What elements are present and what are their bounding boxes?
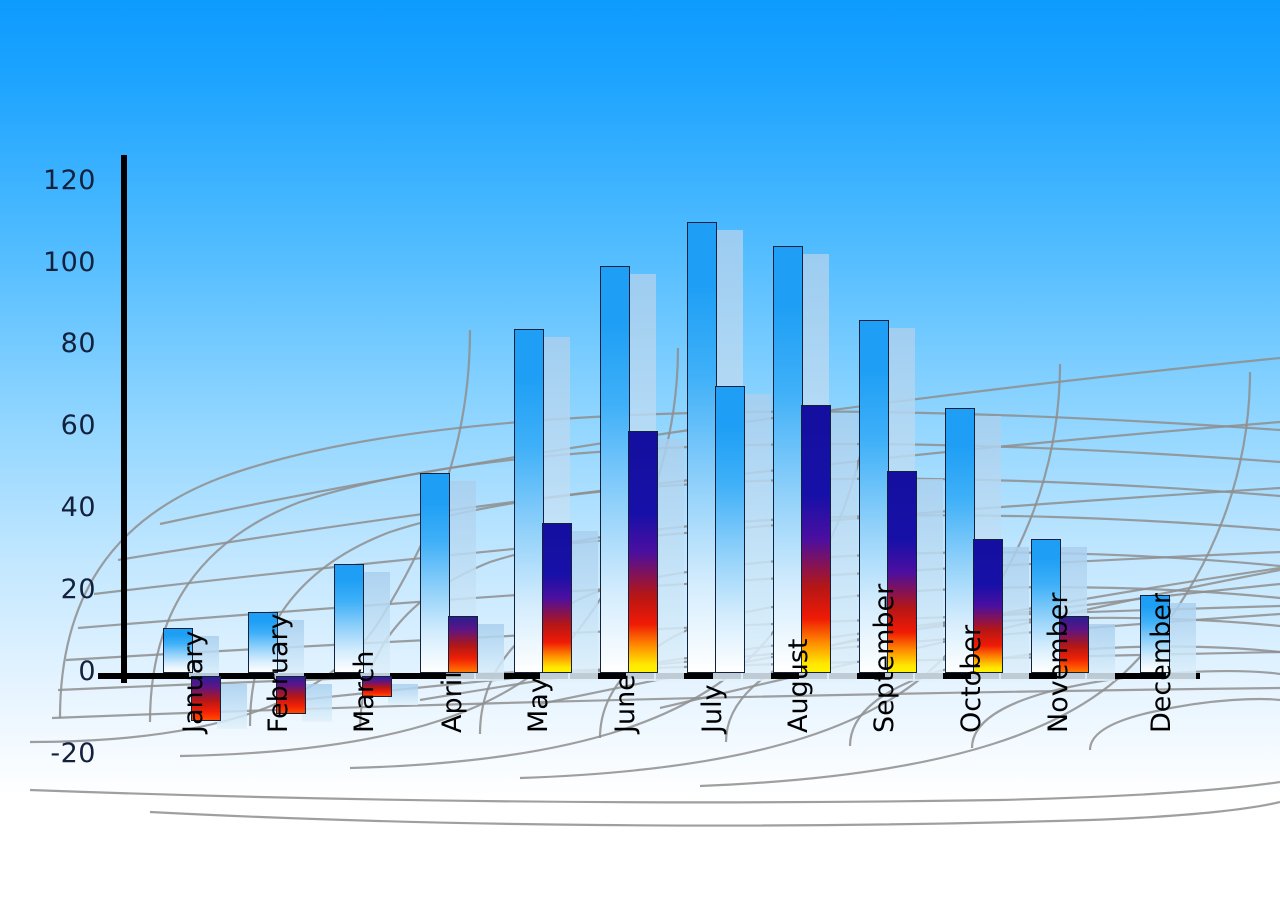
x-tick-label-may: May <box>523 677 554 733</box>
x-tick-label-april: April <box>437 671 468 733</box>
bar-june-series2 <box>628 431 658 673</box>
bar-shadow <box>474 624 504 681</box>
bar-may-series1 <box>514 329 544 673</box>
bar-face <box>420 473 450 673</box>
bar-august-series1 <box>773 246 803 673</box>
bar-shadow <box>999 547 1029 681</box>
x-tick-label-february: February <box>263 613 294 733</box>
bar-august-series2 <box>801 405 831 673</box>
bar-face <box>448 616 478 673</box>
plot-area: 120 100 80 60 40 20 0 -20 <box>0 0 1280 905</box>
bar-shadow <box>741 394 771 681</box>
y-tick-label: 100 <box>24 247 96 278</box>
x-tick-label-september: September <box>869 584 900 733</box>
y-tick-label: 40 <box>24 492 96 523</box>
bar-face <box>542 523 572 673</box>
bar-face <box>600 266 630 673</box>
bar-face <box>773 246 803 673</box>
x-tick-label-august: August <box>783 639 814 734</box>
bar-shadow <box>217 684 247 729</box>
bar-shadow <box>827 413 857 681</box>
bar-shadow <box>568 531 598 681</box>
chart-canvas: 120 100 80 60 40 20 0 -20 <box>0 0 1280 905</box>
bar-july-series2 <box>715 386 745 673</box>
bar-shadow <box>1085 624 1115 681</box>
bar-shadow <box>913 479 943 681</box>
y-tick-label: 120 <box>24 165 96 196</box>
y-axis-line <box>121 155 127 683</box>
x-tick-label-january: January <box>178 631 209 733</box>
x-tick-label-november: November <box>1043 593 1074 733</box>
bar-april-series2 <box>448 616 478 673</box>
y-tick-label: 20 <box>24 574 96 605</box>
bar-may-series2 <box>542 523 572 673</box>
x-tick-label-july: July <box>697 684 728 733</box>
y-tick-label: 0 <box>24 656 96 687</box>
bar-june-series1 <box>600 266 630 673</box>
y-tick-label: 80 <box>24 328 96 359</box>
y-tick-label: 60 <box>24 410 96 441</box>
bar-july-series1 <box>687 222 717 673</box>
x-tick-label-october: October <box>956 625 987 733</box>
x-tick-label-december: December <box>1146 593 1177 733</box>
x-tick-label-march: March <box>349 651 380 733</box>
x-tick-label-june: June <box>610 674 641 733</box>
bar-face <box>628 431 658 673</box>
bar-face <box>687 222 717 673</box>
bar-april-series1 <box>420 473 450 673</box>
bar-face <box>715 386 745 673</box>
bar-shadow <box>388 684 418 705</box>
y-tick-label: -20 <box>24 738 96 769</box>
bar-face <box>514 329 544 673</box>
bar-shadow <box>654 439 684 681</box>
bar-shadow <box>302 684 332 722</box>
bar-face <box>801 405 831 673</box>
